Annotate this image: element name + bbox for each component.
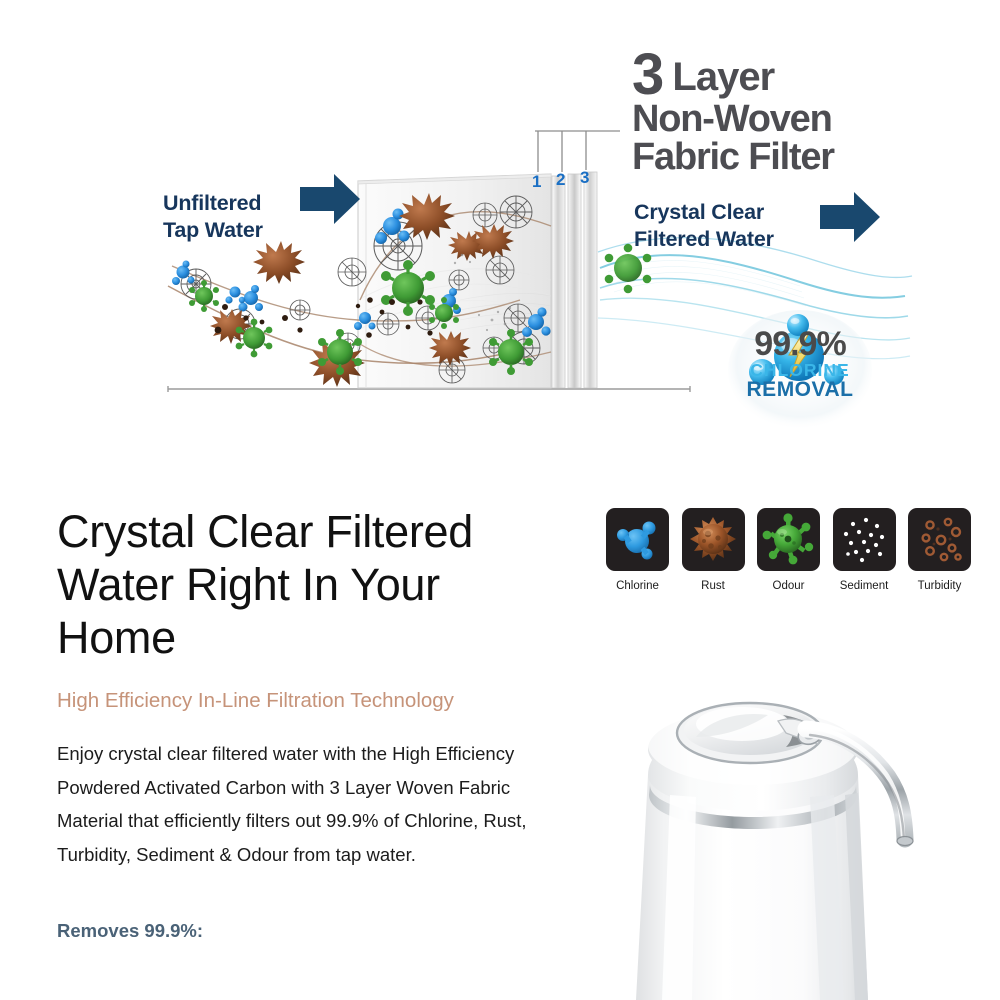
product-feature-page: Unfiltered Tap Water 3 Layer Non-Woven F… — [0, 0, 1000, 1000]
icon-label-rust: Rust — [682, 580, 745, 592]
chlorine-icon — [606, 508, 669, 571]
contaminant-icon-row: Chlorine — [606, 508, 971, 592]
icon-cell-sediment: Sediment — [833, 508, 896, 592]
icon-cell-rust: Rust — [682, 508, 745, 592]
crystal-line2: Filtered Water — [634, 226, 774, 253]
inlet-arrow — [300, 174, 360, 224]
heading-line2: Non-Woven — [632, 100, 834, 139]
turbidity-icon — [908, 508, 971, 571]
icon-label-odour: Odour — [757, 580, 820, 592]
layer-number-1: 1 — [532, 172, 541, 192]
heading-line3: Fabric Filter — [632, 138, 834, 177]
water-filter-dispenser-image — [600, 645, 1000, 1000]
three-layer-heading: 3 Layer Non-Woven Fabric Filter — [632, 47, 834, 177]
heading-line1: 3 Layer — [632, 47, 834, 102]
badge-line1: CHLORINE — [735, 361, 865, 379]
body-paragraph: Enjoy crystal clear filtered water with … — [57, 737, 577, 872]
unfiltered-line1: Unfiltered — [163, 190, 263, 217]
icon-cell-turbidity: Turbidity — [908, 508, 971, 592]
icon-cell-chlorine: Chlorine — [606, 508, 669, 592]
badge-percent: 99.9% — [735, 327, 865, 361]
outlet-arrow — [820, 192, 880, 242]
rust-icon — [682, 508, 745, 571]
removes-label: Removes 99.9%: — [57, 920, 203, 942]
sediment-icon — [833, 508, 896, 571]
icon-label-chlorine: Chlorine — [606, 580, 669, 592]
icon-label-sediment: Sediment — [833, 580, 896, 592]
layer-number-2: 2 — [556, 170, 565, 190]
page-title: Crystal Clear Filtered Water Right In Yo… — [57, 505, 557, 664]
odour-icon — [757, 508, 820, 571]
crystal-line1: Crystal Clear — [634, 199, 774, 226]
chlorine-removal-badge: 99.9% CHLORINE REMOVAL — [735, 325, 865, 401]
crystal-clear-filtered-water-label: Crystal Clear Filtered Water — [634, 199, 774, 253]
icon-label-turbidity: Turbidity — [908, 580, 971, 592]
unfiltered-line2: Tap Water — [163, 217, 263, 244]
layer-word: Layer — [672, 55, 774, 99]
unfiltered-tap-water-label: Unfiltered Tap Water — [163, 190, 263, 244]
badge-line2: REMOVAL — [735, 379, 865, 401]
icon-cell-odour: Odour — [757, 508, 820, 592]
filtration-diagram: Unfiltered Tap Water 3 Layer Non-Woven F… — [0, 0, 1000, 478]
page-subtitle: High Efficiency In-Line Filtration Techn… — [57, 688, 577, 715]
diagram-graphics — [0, 0, 1000, 478]
layer-number-3: 3 — [580, 168, 589, 188]
